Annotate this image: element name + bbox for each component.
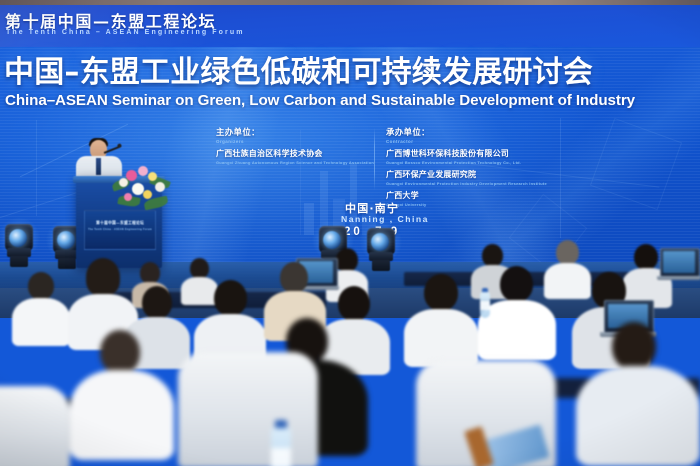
person-head <box>634 244 658 270</box>
seminar-title-cn: 中国–东盟工业绿色低碳和可持续发展研讨会 <box>4 58 700 88</box>
light-lens <box>371 233 389 251</box>
conference-photo: 第十届中国—东盟工程论坛 The Tenth China – ASEAN Eng… <box>0 0 700 466</box>
organizer-name-cn: 广西壮族自治区科学技术协会 <box>216 148 374 159</box>
flower <box>126 170 137 181</box>
organizers-label-en: Organizers <box>216 139 374 144</box>
person-torso <box>70 370 174 460</box>
person-head <box>86 258 120 296</box>
organizers-block: 主办单位： Organizers 广西壮族自治区科学技术协会 Guangxi Z… <box>216 126 374 165</box>
chair-cover <box>178 352 318 466</box>
person-torso <box>404 309 478 367</box>
flower <box>124 193 132 201</box>
contractor-name-cn: 广西环保产业发展研究院 <box>386 169 547 180</box>
flower <box>148 172 157 181</box>
bottle-label <box>271 448 291 466</box>
seminar-title-en: China–ASEAN Seminar on Green, Low Carbon… <box>5 93 700 108</box>
light-base <box>58 258 76 269</box>
bottle-label <box>480 301 490 310</box>
contractor-name-cn: 广西博世科环保科技股份有限公司 <box>386 148 547 159</box>
light-lens <box>323 231 341 249</box>
person-torso <box>181 277 218 305</box>
person-torso <box>12 298 70 346</box>
person-head <box>500 266 533 302</box>
podium-sign-en: The Tenth China - ASEAN Engineering Foru… <box>85 228 155 231</box>
person-head <box>556 240 579 265</box>
person-torso <box>544 263 591 299</box>
contractor-name-en: Guangxi Environmental Protection Industr… <box>386 181 547 186</box>
person-head <box>482 244 503 267</box>
podium-sign: 第十届中国—东盟工程论坛 The Tenth China - ASEAN Eng… <box>84 210 156 250</box>
screen-artline <box>36 120 38 216</box>
org-divider <box>374 128 375 190</box>
laptop-base <box>657 276 700 280</box>
light-base <box>10 256 28 267</box>
stage-light <box>366 228 396 272</box>
person-head <box>190 258 209 279</box>
organizer-name-en: Guangxi Zhuang Autonomous Region Science… <box>216 160 374 165</box>
screen-artline <box>590 118 682 210</box>
ceiling-edge <box>0 0 700 5</box>
contractor-name-en: Guangxi University <box>386 202 547 207</box>
podium-sign-cn: 第十届中国—东盟工程论坛 <box>85 220 155 226</box>
person-head <box>424 274 458 311</box>
light-lens <box>57 231 75 249</box>
speaker-tie <box>96 158 101 175</box>
contractors-label-cn: 承办单位： <box>386 126 547 138</box>
laptop-display <box>663 251 695 273</box>
person-head <box>100 330 140 374</box>
flower-arrangement <box>110 166 174 214</box>
person-head <box>214 280 247 316</box>
person-head <box>612 322 656 370</box>
organizers-label-cn: 主办单位： <box>216 126 374 138</box>
contractors-label-en: Contractor <box>386 139 547 144</box>
chair-cover <box>0 386 70 466</box>
contractors-block: 承办单位： Contractor 广西博世科环保科技股份有限公司 Guangxi… <box>386 126 547 207</box>
light-base <box>372 260 390 271</box>
flower <box>155 182 165 192</box>
person-head <box>336 248 358 272</box>
contractor-name-en: Guangxi Bossco Environmental Protection … <box>386 160 547 165</box>
person-torso <box>576 366 700 466</box>
person-head <box>28 272 54 300</box>
flower <box>119 178 128 187</box>
person-head <box>280 262 308 293</box>
light-lens <box>9 229 27 247</box>
flower <box>143 190 152 199</box>
stage-light <box>4 224 34 268</box>
flower <box>138 166 148 176</box>
person-head <box>140 262 160 284</box>
person-head <box>142 286 172 319</box>
contractor-name-cn: 广西大学 <box>386 190 547 201</box>
forum-title-en: The Tenth China – ASEAN Engineering Foru… <box>6 29 245 36</box>
person-head <box>338 286 370 321</box>
